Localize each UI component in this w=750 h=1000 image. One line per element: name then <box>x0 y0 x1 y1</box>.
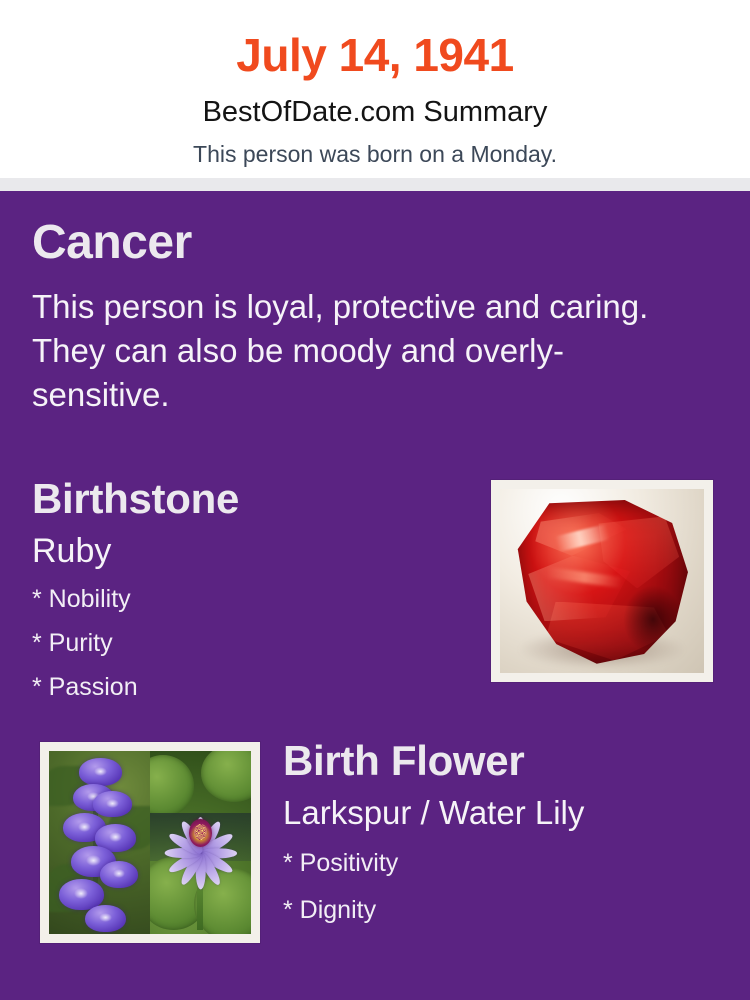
ruby-crystal-image <box>500 489 704 673</box>
water-lily-bloom <box>168 799 233 869</box>
site-subtitle: BestOfDate.com Summary <box>0 78 750 127</box>
card-header: July 14, 1941 BestOfDate.com Summary Thi… <box>0 0 750 178</box>
birth-flower-section: Birth Flower Larkspur / Water Lily * Pos… <box>283 740 723 923</box>
water-lily-image <box>150 751 251 934</box>
birthstone-trait: * Nobility <box>32 587 472 612</box>
ruby-scene <box>500 489 704 673</box>
larkspur-bloom <box>79 758 121 785</box>
birth-flower-trait: * Positivity <box>283 851 723 876</box>
birthstone-trait: * Purity <box>32 631 472 656</box>
summary-card: July 14, 1941 BestOfDate.com Summary Thi… <box>0 0 750 1000</box>
flower-image-pair <box>49 751 251 934</box>
larkspur-image <box>49 751 150 934</box>
larkspur-bloom <box>93 791 131 817</box>
birth-flower-trait: * Dignity <box>283 898 723 923</box>
birthstone-name: Ruby <box>32 534 472 568</box>
birth-flower-image-frame <box>40 742 260 943</box>
birth-flower-name: Larkspur / Water Lily <box>283 796 723 829</box>
birthstone-section: Birthstone Ruby * Nobility * Purity * Pa… <box>32 478 472 700</box>
page-title: July 14, 1941 <box>0 0 750 78</box>
lily-pad <box>201 751 252 802</box>
larkspur-bloom <box>100 861 138 888</box>
birth-flower-heading: Birth Flower <box>283 740 723 782</box>
birthstone-heading: Birthstone <box>32 478 472 520</box>
birth-weekday-text: This person was born on a Monday. <box>0 127 750 166</box>
header-divider <box>0 178 750 191</box>
birthstone-image-frame <box>491 480 713 682</box>
larkspur-bloom <box>85 905 125 932</box>
zodiac-description: This person is loyal, protective and car… <box>32 285 652 417</box>
birthstone-trait: * Passion <box>32 675 472 700</box>
zodiac-sign-name: Cancer <box>32 219 192 267</box>
